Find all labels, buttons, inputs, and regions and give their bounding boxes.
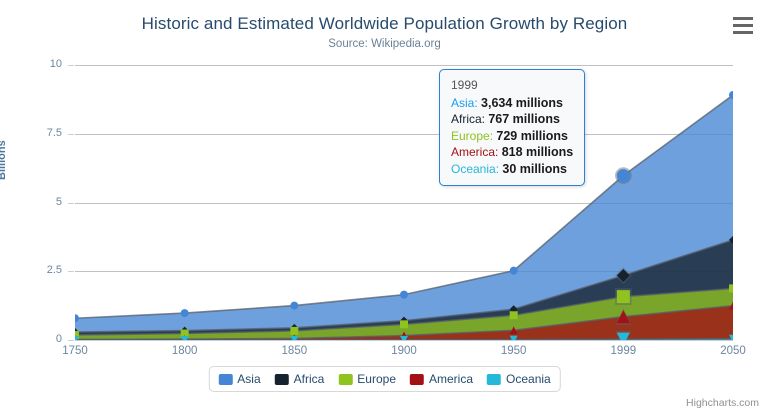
data-point-marker[interactable] [510, 311, 518, 319]
data-point-marker[interactable] [181, 309, 189, 317]
plot-area [75, 65, 733, 340]
data-point-marker[interactable] [617, 290, 630, 303]
tooltip-series-value: 30 millions [502, 162, 567, 176]
tooltip-series-value: 3,634 millions [481, 96, 563, 110]
y-axis-tick-mark [68, 65, 74, 66]
y-axis-tick-label: 7.5 [0, 127, 62, 139]
y-axis-tick-label: 10 [0, 58, 62, 70]
highcharts-container: Historic and Estimated Worldwide Populat… [0, 0, 769, 416]
data-point-marker[interactable] [729, 284, 733, 292]
tooltip-header: 1999 [451, 77, 573, 95]
legend-item-america[interactable]: America [410, 372, 473, 386]
tooltip: 1999 Asia: 3,634 millionsAfrica: 767 mil… [439, 69, 585, 186]
x-axis-tick-label: 1750 [45, 345, 105, 357]
y-axis-tick-label: 2.5 [0, 264, 62, 276]
legend: AsiaAfricaEuropeAmericaOceania [208, 366, 560, 392]
data-point-marker[interactable] [400, 320, 408, 328]
tooltip-series-name: Europe: [451, 129, 496, 143]
legend-item-label: Europe [357, 372, 396, 386]
legend-item-europe[interactable]: Europe [338, 372, 396, 386]
legend-item-asia[interactable]: Asia [218, 372, 260, 386]
x-axis-tick-label: 1999 [593, 345, 653, 357]
data-point-marker[interactable] [400, 291, 408, 299]
tooltip-row: Europe: 729 millions [451, 128, 573, 145]
data-point-marker[interactable] [290, 302, 298, 310]
tooltip-row: Oceania: 30 millions [451, 161, 573, 178]
tooltip-rows: Asia: 3,634 millionsAfrica: 767 millions… [451, 95, 573, 178]
y-axis-tick-label: 0 [0, 333, 62, 345]
hamburger-bar-2 [733, 24, 753, 27]
tooltip-row: America: 818 millions [451, 144, 573, 161]
legend-swatch-icon [338, 374, 352, 385]
tooltip-row: Africa: 767 millions [451, 111, 573, 128]
x-axis-tick-label: 1950 [484, 345, 544, 357]
chart-title: Historic and Estimated Worldwide Populat… [0, 14, 769, 34]
chart-subtitle: Source: Wikipedia.org [0, 38, 769, 50]
x-axis-tick-label: 1800 [155, 345, 215, 357]
y-axis-tick-mark [68, 271, 74, 272]
y-axis-tick-mark [68, 203, 74, 204]
x-axis-line [75, 340, 733, 341]
legend-swatch-icon [487, 374, 501, 385]
y-axis-tick-mark [68, 340, 74, 341]
legend-item-label: America [429, 372, 473, 386]
tooltip-series-name: Africa: [451, 112, 488, 126]
y-axis-tick-mark [68, 134, 74, 135]
tooltip-series-value: 729 millions [496, 129, 568, 143]
legend-swatch-icon [275, 374, 289, 385]
tooltip-series-name: Oceania: [451, 162, 502, 176]
tooltip-series-value: 818 millions [502, 145, 574, 159]
data-point-marker[interactable] [617, 169, 630, 182]
legend-item-africa[interactable]: Africa [275, 372, 325, 386]
series-layer [75, 65, 733, 340]
credits-link[interactable]: Highcharts.com [686, 397, 759, 409]
tooltip-row: Asia: 3,634 millions [451, 95, 573, 112]
x-axis-tick-label: 2050 [703, 345, 763, 357]
hamburger-icon[interactable] [730, 14, 756, 36]
data-point-marker[interactable] [290, 327, 298, 335]
legend-swatch-icon [410, 374, 424, 385]
legend-item-label: Oceania [506, 372, 551, 386]
x-axis-tick-label: 1900 [374, 345, 434, 357]
x-axis-tick-label: 1850 [264, 345, 324, 357]
tooltip-series-name: America: [451, 145, 502, 159]
hamburger-bar-3 [733, 31, 753, 34]
tooltip-series-name: Asia: [451, 96, 481, 110]
legend-item-label: Africa [294, 372, 325, 386]
legend-item-oceania[interactable]: Oceania [487, 372, 551, 386]
y-axis-title: Billions [0, 140, 8, 180]
y-axis-tick-label: 5 [0, 196, 62, 208]
hamburger-bar-1 [733, 17, 753, 20]
tooltip-series-value: 767 millions [488, 112, 560, 126]
legend-swatch-icon [218, 374, 232, 385]
legend-item-label: Asia [237, 372, 260, 386]
data-point-marker[interactable] [510, 267, 518, 275]
